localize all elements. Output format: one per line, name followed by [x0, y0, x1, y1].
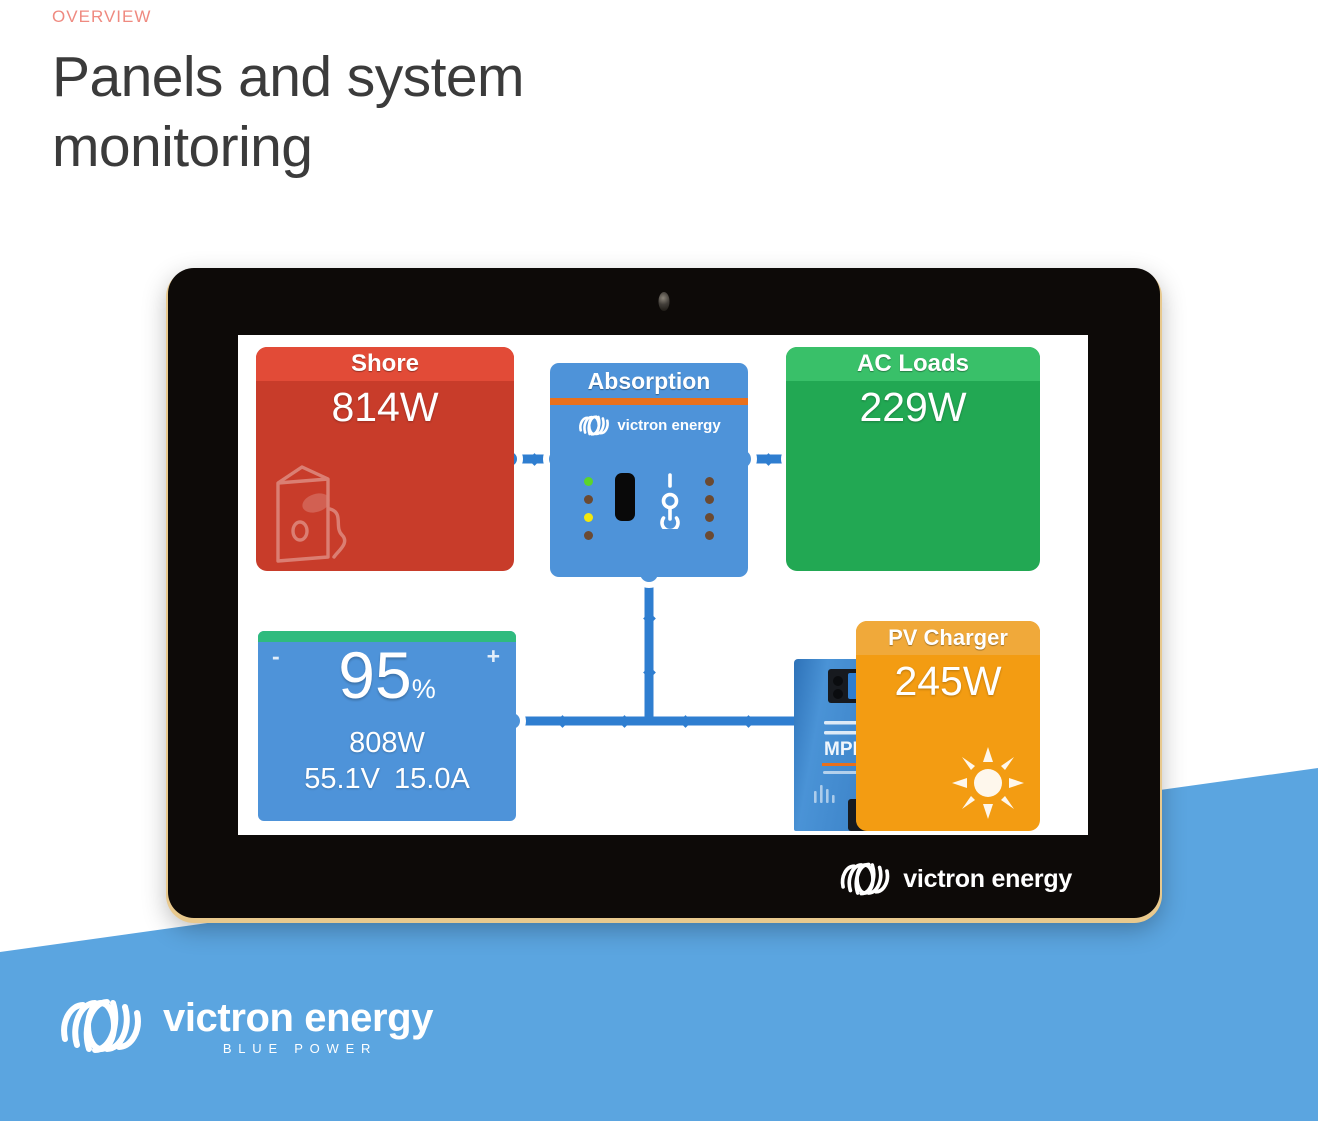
camera-sensor-dot-icon: [659, 292, 670, 311]
panel-ac-loads[interactable]: AC Loads 229W: [786, 347, 1040, 571]
panel-shore-value: 814W: [256, 381, 514, 431]
power-io-symbols-icon: [657, 473, 683, 529]
footer-tagline: BLUE POWER: [163, 1041, 433, 1056]
panel-ac-loads-title: AC Loads: [786, 347, 1040, 381]
gx-touch-display-device: Shore 814W Absorption: [168, 268, 1160, 918]
victron-logo-icon: [837, 860, 893, 898]
led-column-right: [705, 473, 714, 540]
panel-pv-charger-title: PV Charger: [856, 621, 1040, 655]
absorption-brand-logo: victron energy: [550, 405, 748, 437]
footer-brand-logo: victron energy BLUE POWER: [55, 995, 433, 1057]
battery-negative-sign: -: [272, 645, 280, 667]
battery-voltage-current: 55.1V15.0A: [258, 761, 516, 797]
panel-shore-title: Shore: [256, 347, 514, 381]
led-off: [705, 513, 714, 522]
battery-soc-value: 95: [338, 638, 411, 712]
battery-soc-unit: %: [412, 674, 436, 704]
led-off: [584, 495, 593, 504]
absorption-brand-name: victron energy: [617, 417, 720, 434]
led-off: [705, 531, 714, 540]
led-green: [584, 477, 593, 486]
page-header: OVERVIEW Panels and system monitoring: [52, 0, 752, 182]
panel-battery[interactable]: - + 95% 808W 55.1V15.0A: [258, 631, 516, 821]
battery-positive-sign: +: [487, 645, 500, 667]
panel-shore[interactable]: Shore 814W: [256, 347, 514, 571]
battery-current-value: 15.0A: [394, 763, 470, 795]
absorption-control-cluster: [550, 473, 748, 540]
sun-icon: [950, 745, 1026, 821]
led-off: [705, 477, 714, 486]
panel-pv-charger-value: 245W: [856, 655, 1040, 705]
victron-logo-icon: [55, 995, 147, 1057]
device-brand-logo: victron energy: [837, 860, 1072, 898]
absorption-orange-stripe: [550, 398, 748, 405]
panel-pv-charger[interactable]: PV Charger 245W: [856, 621, 1040, 831]
led-yellow: [584, 513, 593, 522]
footer-brand-name: victron energy: [163, 997, 433, 1039]
panel-absorption-title: Absorption: [550, 363, 748, 398]
panel-ac-loads-value: 229W: [786, 381, 1040, 431]
battery-state-of-charge: 95%: [258, 631, 516, 725]
page-title: Panels and system monitoring: [52, 42, 672, 182]
eyebrow-label: OVERVIEW: [52, 0, 752, 30]
device-screen[interactable]: Shore 814W Absorption: [238, 335, 1088, 835]
panel-absorption-inverter[interactable]: Absorption: [550, 363, 748, 577]
victron-logo-icon: [577, 414, 611, 437]
led-column-left: [584, 473, 593, 540]
battery-power-value: 808W: [258, 725, 516, 761]
led-off: [584, 531, 593, 540]
battery-voltage-value: 55.1V: [304, 763, 380, 795]
shore-power-pedestal-icon: [272, 457, 364, 565]
led-off: [705, 495, 714, 504]
rocker-switch-icon[interactable]: [615, 473, 635, 521]
battery-top-bar: [258, 631, 516, 642]
device-brand-name: victron energy: [903, 865, 1072, 894]
